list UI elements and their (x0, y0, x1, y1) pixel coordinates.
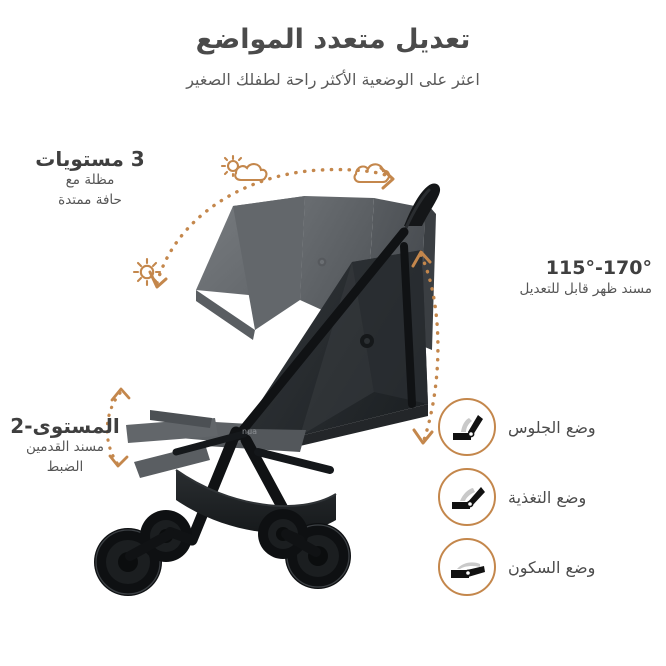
callout-footrest-line2: الضبط (0, 458, 130, 478)
callout-recline-line1: مسند ظهر قابل للتعديل (437, 280, 652, 300)
position-row-feeding: وضع التغذية (438, 466, 648, 528)
callout-canopy-value: 3 مستويات (10, 148, 170, 171)
callout-footrest-value: المستوى-2 (0, 415, 130, 438)
position-label-sitting: وضع الجلوس (508, 418, 596, 437)
callout-recline-value: 115°-170° (437, 258, 652, 280)
position-row-resting: وضع السكون (438, 536, 648, 598)
seat-upright-icon (438, 398, 496, 456)
seat-reclined-icon (438, 468, 496, 526)
callout-canopy-line1: مظلة مع (10, 171, 170, 191)
position-row-sitting: وضع الجلوس (438, 396, 648, 458)
callout-canopy-line2: حافة ممتدة (10, 191, 170, 211)
callout-footrest: المستوى-2 مسند القدمين الضبط (0, 415, 130, 477)
callout-canopy: 3 مستويات مظلة مع حافة ممتدة (10, 148, 170, 210)
seat-flat-icon (438, 538, 496, 596)
position-label-resting: وضع السكون (508, 558, 595, 577)
position-label-feeding: وضع التغذية (508, 488, 586, 507)
callout-recline: 115°-170° مسند ظهر قابل للتعديل (437, 258, 652, 299)
infographic-canvas: تعديل متعدد المواضع اعثر على الوضعية الأ… (0, 0, 666, 666)
brand-mark: nua (242, 427, 257, 436)
callout-footrest-line1: مسند القدمين (0, 438, 130, 458)
